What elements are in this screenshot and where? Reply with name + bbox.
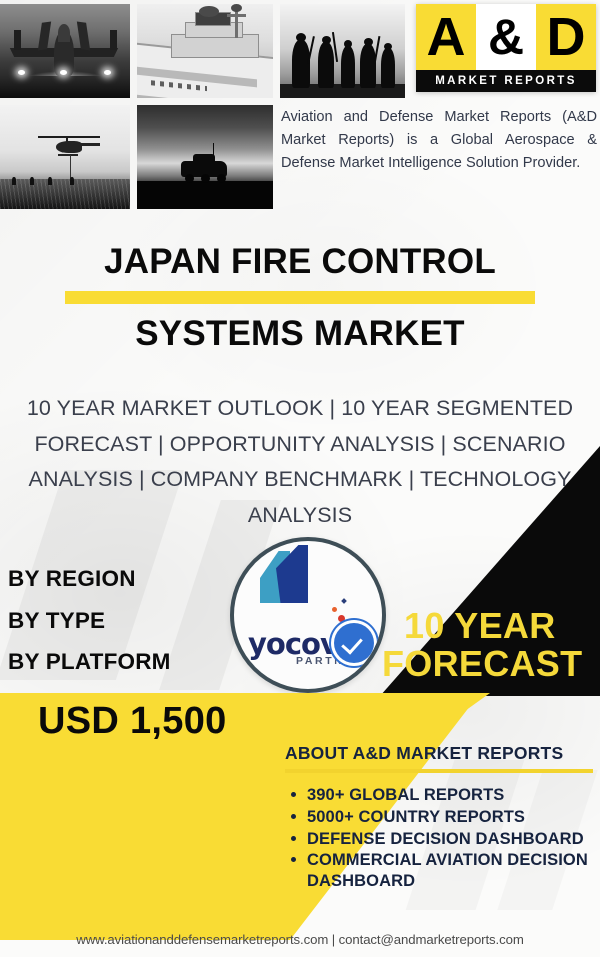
photo-helicopter-over-field [0,105,130,209]
ground-soldier-2 [30,177,34,185]
ship-mast-cross [227,14,246,17]
bullet-icon [291,857,296,862]
about-panel: ABOUT A&D MARKET REPORTS 390+ GLOBAL REP… [285,743,595,893]
helicopter-rotor [38,136,100,138]
yocova-partner-badge[interactable]: yocova PARTNER [230,537,386,693]
about-bullet-list: 390+ GLOBAL REPORTS 5000+ COUNTRY REPORT… [285,785,595,892]
company-intro-paragraph: Aviation and Defense Market Reports (A&D… [281,106,597,174]
verified-check-icon [334,623,374,663]
jet-light-right [104,70,111,75]
report-title-line-2: SYSTEMS MARKET [0,315,600,352]
jet-light-mid [60,70,67,75]
list-item: DEFENSE DECISION DASHBOARD [307,829,595,850]
soldier-body-3 [341,46,355,88]
forecast-line-1: 10 YEAR [404,607,600,645]
logo-letter-a: A [416,4,476,70]
ground-soldier-3 [48,177,52,185]
hero-photo-strip [0,0,280,215]
jet-tail-left [38,22,51,51]
footer-contact-line[interactable]: www.aviationanddefensemarketreports.com … [0,932,600,947]
price-value: USD 1,500 [38,700,318,743]
yocova-accent-dot-navy [341,598,347,604]
vehicle-ground [137,181,273,209]
ad-market-reports-logo[interactable]: A & D MARKET REPORTS [416,4,596,92]
jet-fin-right [110,30,117,50]
soldier-body-1 [292,40,310,88]
soldier-body-5 [381,48,395,88]
ground-soldier-4 [70,177,74,185]
segmentation-item-platform: BY PLATFORM [8,641,258,683]
armored-vehicle-turret [193,154,215,162]
logo-tagline-text: MARKET REPORTS [435,75,577,87]
photo-soldiers-silhouette [280,4,405,98]
helicopter-tail-boom [78,143,100,146]
list-item: 390+ GLOBAL REPORTS [307,785,595,806]
armored-vehicle-wheel-mid [201,174,210,183]
soldier-rifle-4 [374,36,381,64]
yocova-accent-dot-red [338,615,345,622]
about-heading-underline [285,769,593,773]
photo-armored-vehicle-at-dusk [137,105,273,209]
logo-ampersand: & [476,4,536,70]
report-scope-subtitle: 10 YEAR MARKET OUTLOOK | 10 YEAR SEGMENT… [20,391,580,534]
list-item: COMMERCIAL AVIATION DECISION DASHBOARD [307,850,595,892]
helicopter-skid [58,154,78,156]
logo-letter-blocks: A & D [416,4,596,70]
jet-fin-left [14,30,21,50]
soldier-body-4 [360,44,376,88]
soldier-body-2 [318,42,334,88]
ground-soldier-1 [12,177,16,185]
yocova-accent-dot-orange [332,607,337,612]
report-cover-page: A & D MARKET REPORTS Aviation and Defens… [0,0,600,957]
report-title: JAPAN FIRE CONTROL SYSTEMS MARKET [0,243,600,352]
armored-vehicle-wheel-front [185,174,194,183]
about-bullet-text: DEFENSE DECISION DASHBOARD [307,830,584,848]
report-title-line-1: JAPAN FIRE CONTROL [0,243,600,280]
forecast-line-2: FORECAST [382,645,600,683]
segmentation-list: BY REGION BY TYPE BY PLATFORM [8,558,258,683]
jet-tail-right [77,22,90,51]
armored-vehicle-antenna [213,143,214,155]
ship-radar-dish [231,4,242,12]
forecast-callout: 10 YEAR FORECAST [404,607,600,683]
jet-light-left [18,70,25,75]
photo-fighter-jet-on-carrier-deck [0,4,130,98]
ship-mast [235,8,238,38]
bullet-icon [291,814,296,819]
jet-nose [58,24,70,42]
title-yellow-rule [65,291,535,304]
segmentation-item-type: BY TYPE [8,600,258,642]
about-bullet-text: 390+ GLOBAL REPORTS [307,786,504,804]
logo-letter-d: D [536,4,596,70]
armored-vehicle-wheel-rear [217,174,226,183]
bullet-icon [291,836,296,841]
photo-naval-warship [137,4,273,98]
about-bullet-text: 5000+ COUNTRY REPORTS [307,808,525,826]
carrier-deck [0,76,130,98]
logo-tagline-bar: MARKET REPORTS [416,70,596,92]
ship-radar-dome [199,6,219,17]
list-item: 5000+ COUNTRY REPORTS [307,807,595,828]
ship-hull-markings [151,80,207,91]
about-bullet-text: COMMERCIAL AVIATION DECISION DASHBOARD [307,851,588,890]
segmentation-item-region: BY REGION [8,558,258,600]
bullet-icon [291,792,296,797]
field-grass-texture [0,179,130,209]
about-heading: ABOUT A&D MARKET REPORTS [285,743,595,764]
